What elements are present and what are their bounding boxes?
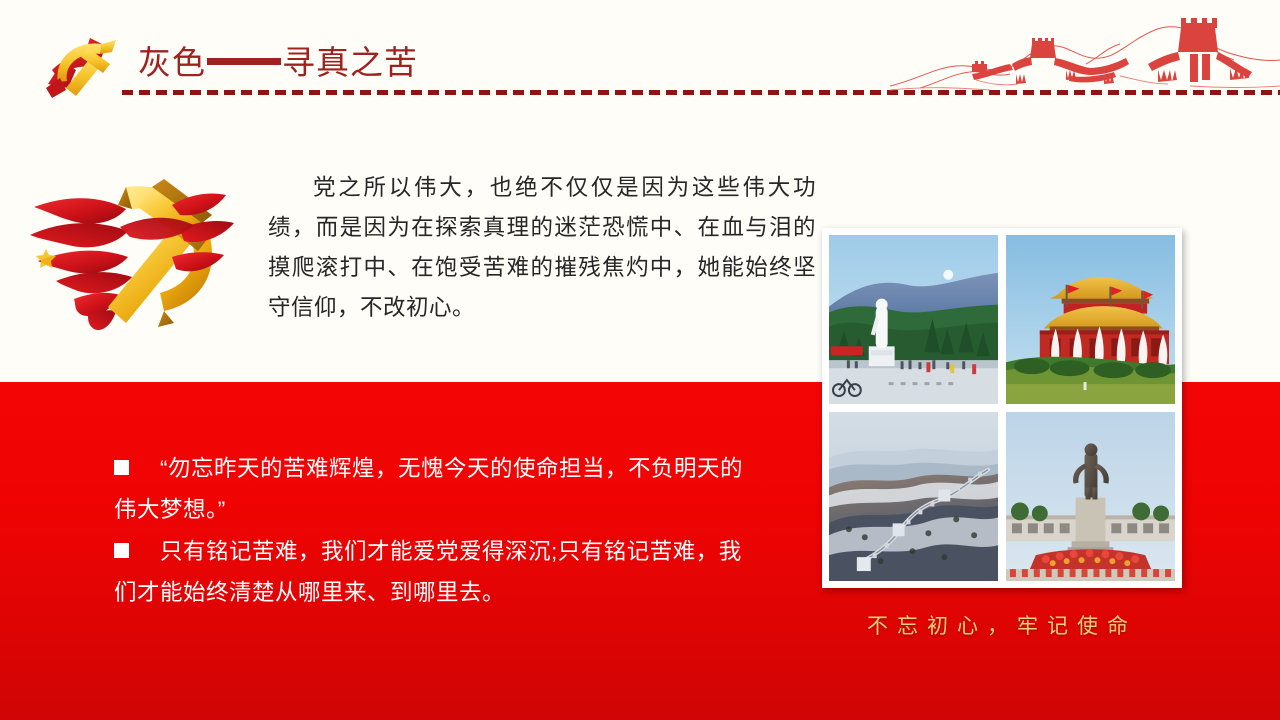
main-paragraph: 党之所以伟大，也绝不仅仅是因为这些伟大功绩，而是因为在探索真理的迷茫恐慌中、在血… (268, 168, 816, 328)
white-square-bullet-icon (114, 460, 129, 475)
slide-root: 灰色寻真之苦 (0, 0, 1280, 720)
list-item-label: “勿忘昨天的苦难辉煌，无愧今天的使命担当，不负明天的伟大梦想。” (114, 456, 743, 522)
title-dash-rule (207, 58, 281, 65)
party-emblem-with-flag-ribbons-icon (22, 165, 240, 340)
great-wall-illustration-icon (890, 2, 1280, 94)
list-item: 只有铭记苦难，我们才能爱党爱得深沉;只有铭记苦难，我们才能始终清楚从哪里来、到哪… (114, 531, 754, 613)
photo-mao-bronze-statue-flowers (1006, 412, 1175, 581)
footer-tagline: 不忘初心，牢记使命 (822, 610, 1182, 640)
photo-great-wall-snow (829, 412, 998, 581)
title-suffix: 寻真之苦 (282, 46, 418, 82)
photo-collage (822, 228, 1182, 588)
title-prefix: 灰色 (138, 46, 206, 82)
page-title: 灰色寻真之苦 (138, 36, 418, 84)
white-square-bullet-icon (114, 543, 129, 558)
photo-mao-white-statue-mountain (829, 235, 998, 404)
photo-tiananmen-fountain (1006, 235, 1175, 404)
list-item: “勿忘昨天的苦难辉煌，无愧今天的使命担当，不负明天的伟大梦想。” (114, 448, 754, 530)
bullet-list: “勿忘昨天的苦难辉煌，无愧今天的使命担当，不负明天的伟大梦想。” 只有铭记苦难，… (114, 448, 754, 614)
slide-header: 灰色寻真之苦 (0, 0, 1280, 110)
list-item-label: 只有铭记苦难，我们才能爱党爱得深沉;只有铭记苦难，我们才能始终清楚从哪里来、到哪… (114, 539, 742, 605)
